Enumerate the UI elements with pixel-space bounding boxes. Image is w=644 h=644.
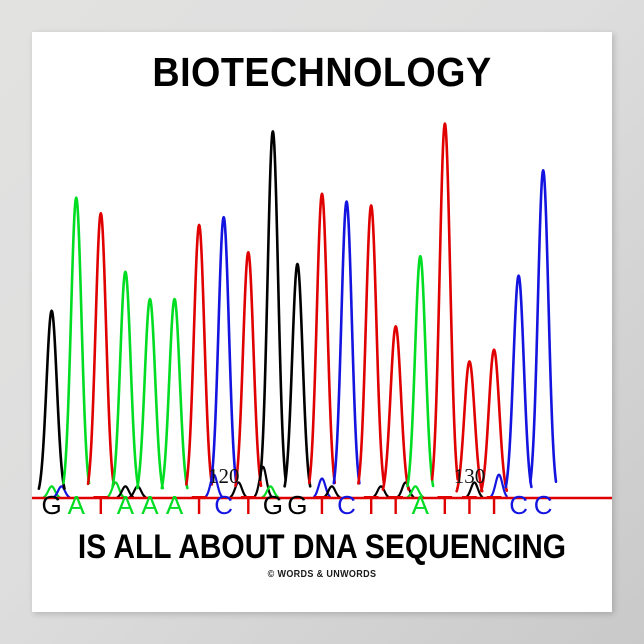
base-call-letter: T	[437, 490, 453, 520]
base-call-letter: A	[117, 490, 134, 520]
chromatogram-peaks-layer	[39, 124, 556, 492]
chromatogram-panel	[32, 102, 612, 502]
base-call-letter: T	[363, 490, 379, 520]
chromatogram-peak-t	[358, 206, 384, 484]
chromatogram-peak-a	[63, 198, 89, 483]
base-call-letter: C	[534, 490, 553, 520]
chromatogram-peak-a	[162, 299, 188, 488]
chromatogram-peak-c	[530, 170, 556, 481]
base-call-letter: T	[191, 490, 207, 520]
base-call-row: GATAAATCTGGTCTTATTTCC	[32, 490, 612, 522]
page-title: BIOTECHNOLOGY	[55, 50, 589, 94]
chromatogram-peak-t	[235, 252, 261, 485]
base-call-letter: C	[509, 490, 528, 520]
axis-tick-label: 130	[454, 464, 486, 489]
base-call-letter: T	[240, 490, 256, 520]
base-call-letter: T	[93, 490, 109, 520]
base-call-letter: A	[141, 490, 158, 520]
chromatogram-peak-c	[506, 276, 532, 487]
chromatogram-peak-t	[88, 213, 114, 484]
chromatogram-plot	[32, 102, 612, 502]
base-call-letter: T	[388, 490, 404, 520]
chromatogram-peak-a	[113, 272, 139, 487]
credit-line: © WORDS & UNWORDS	[61, 569, 583, 580]
chromatogram-peak-a	[408, 256, 434, 486]
chromatogram-peak-c	[334, 202, 360, 484]
base-call-letter: G	[263, 490, 283, 520]
chromatogram-peak-g	[260, 131, 286, 479]
poster-frame: BIOTECHNOLOGY 120130 GATAAATCTGGTCTTATTT…	[0, 0, 644, 644]
chromatogram-peak-a	[137, 299, 163, 488]
base-call-letter: C	[214, 490, 233, 520]
base-call-letter: G	[287, 490, 307, 520]
chromatogram-peak-c	[211, 217, 237, 484]
poster-canvas: BIOTECHNOLOGY 120130 GATAAATCTGGTCTTATTT…	[32, 32, 612, 612]
base-call-letter: A	[412, 490, 429, 520]
chromatogram-peak-t	[432, 124, 458, 480]
base-call-letter: A	[166, 490, 183, 520]
chromatogram-peak-g	[39, 311, 65, 489]
page-subtitle: IS ALL ABOUT DNA SEQUENCING	[67, 528, 577, 566]
axis-tick-label: 120	[208, 464, 240, 489]
base-call-letter: T	[486, 490, 502, 520]
base-call-letter: C	[337, 490, 356, 520]
chromatogram-peak-t	[186, 225, 212, 484]
base-call-letter: T	[462, 490, 478, 520]
chromatogram-peak-g	[285, 264, 311, 486]
base-call-letter: G	[42, 490, 62, 520]
chromatogram-peak-t	[309, 194, 335, 483]
base-call-letter: T	[314, 490, 330, 520]
base-call-letter: A	[68, 490, 85, 520]
